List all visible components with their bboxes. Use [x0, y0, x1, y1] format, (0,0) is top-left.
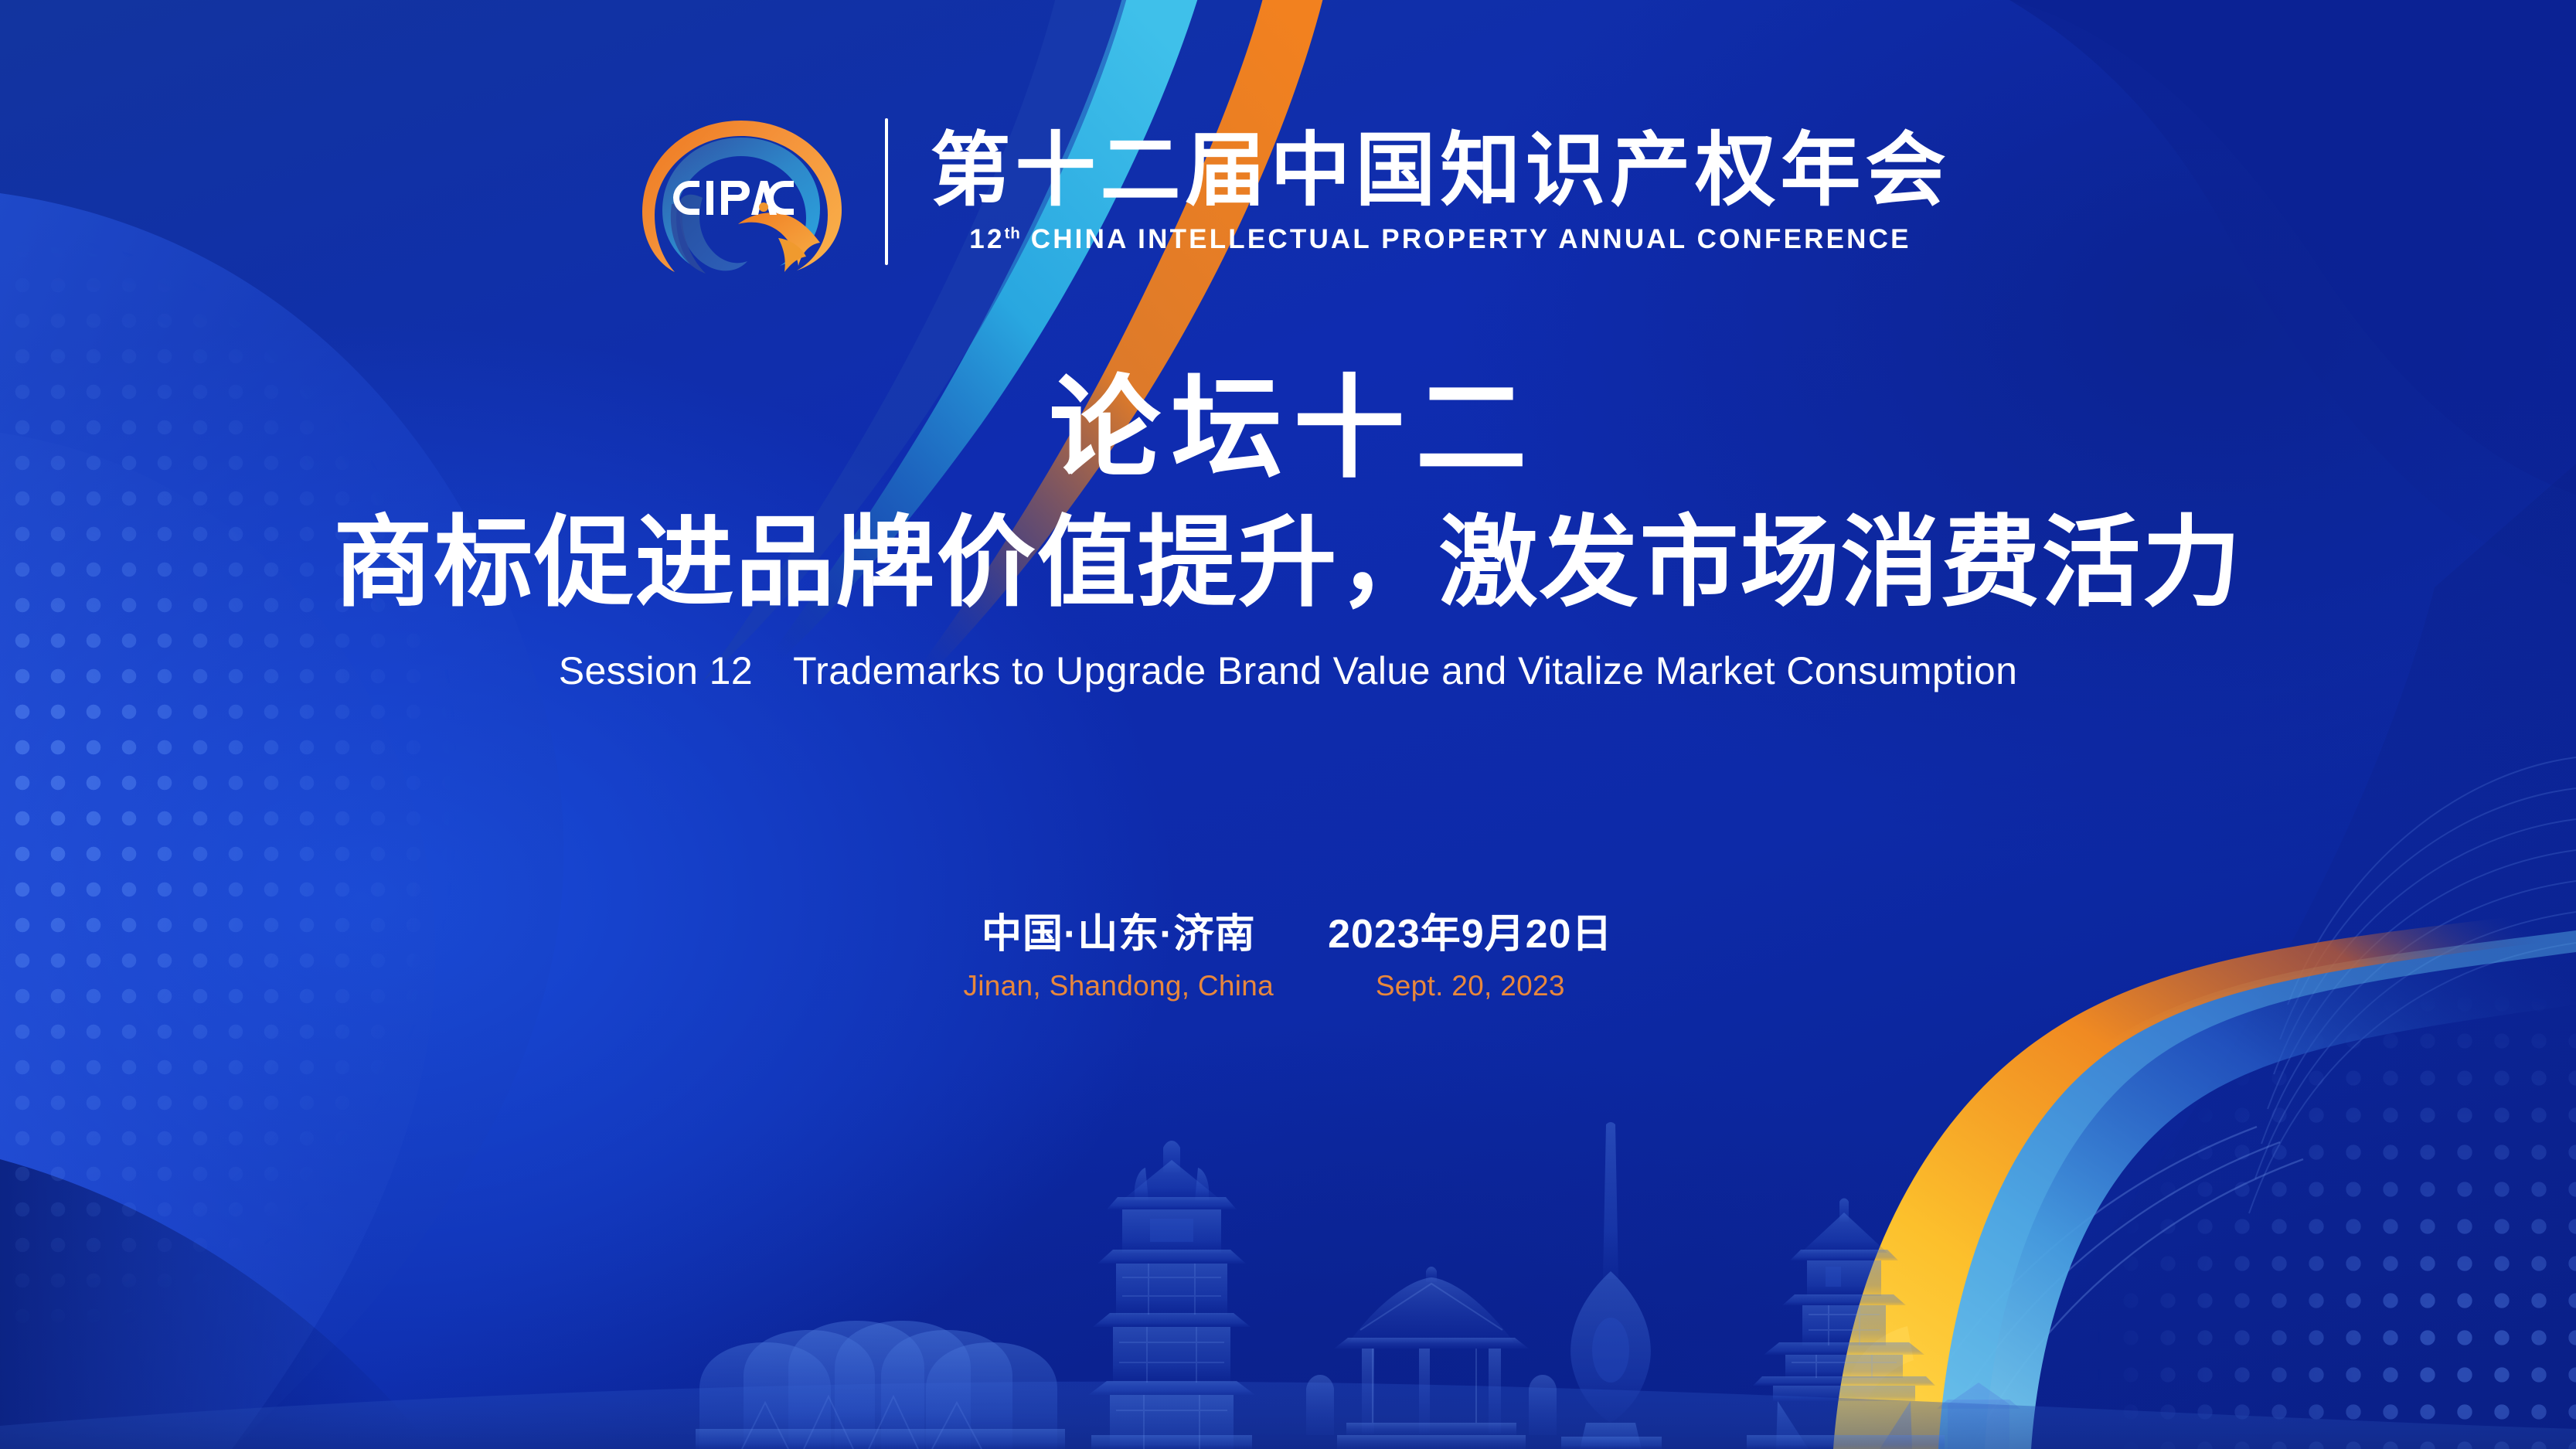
conference-title-en-rest: CHINA INTELLECTUAL PROPERTY ANNUAL CONFE… [1021, 224, 1911, 254]
date-en: Sept. 20, 2023 [1376, 970, 1565, 1002]
event-info-block: 中国·山东·济南 Jinan, Shandong, China 2023年9月2… [0, 910, 2576, 1002]
date-group: 2023年9月20日 Sept. 20, 2023 [1328, 910, 1612, 1002]
conference-title-en-ordinal: 12 [969, 224, 1004, 254]
session-title-block: 论坛十二 商标促进品牌价值提升，激发市场消费活力 Session 12Trade… [0, 363, 2576, 693]
location-group: 中国·山东·济南 Jinan, Shandong, China [963, 910, 1274, 1002]
conference-title-en-suffix: th [1005, 225, 1021, 242]
conference-title-en: 12th CHINA INTELLECTUAL PROPERTY ANNUAL … [969, 224, 1911, 255]
session-number-en: Session 12 [559, 649, 753, 692]
session-number-cn: 论坛十二 [0, 363, 2576, 495]
session-topic-en: Trademarks to Upgrade Brand Value and Vi… [793, 649, 2017, 692]
session-subtitle-en: Session 12Trademarks to Upgrade Brand Va… [0, 648, 2576, 693]
conference-brand: 第十二届中国知识产权年会 12th CHINA INTELLECTUAL PRO… [930, 128, 1950, 255]
banner-header: 第十二届中国知识产权年会 12th CHINA INTELLECTUAL PRO… [0, 107, 2576, 277]
location-cn: 中国·山东·济南 [982, 910, 1256, 959]
session-topic-cn: 商标促进品牌价值提升，激发市场消费活力 [0, 501, 2576, 625]
location-en: Jinan, Shandong, China [963, 970, 1274, 1002]
conference-title-cn: 第十二届中国知识产权年会 [930, 128, 1950, 213]
cipac-logo-icon [625, 107, 857, 277]
header-divider [885, 118, 888, 265]
conference-banner: 第十二届中国知识产权年会 12th CHINA INTELLECTUAL PRO… [0, 0, 2576, 1449]
date-cn: 2023年9月20日 [1328, 910, 1612, 959]
